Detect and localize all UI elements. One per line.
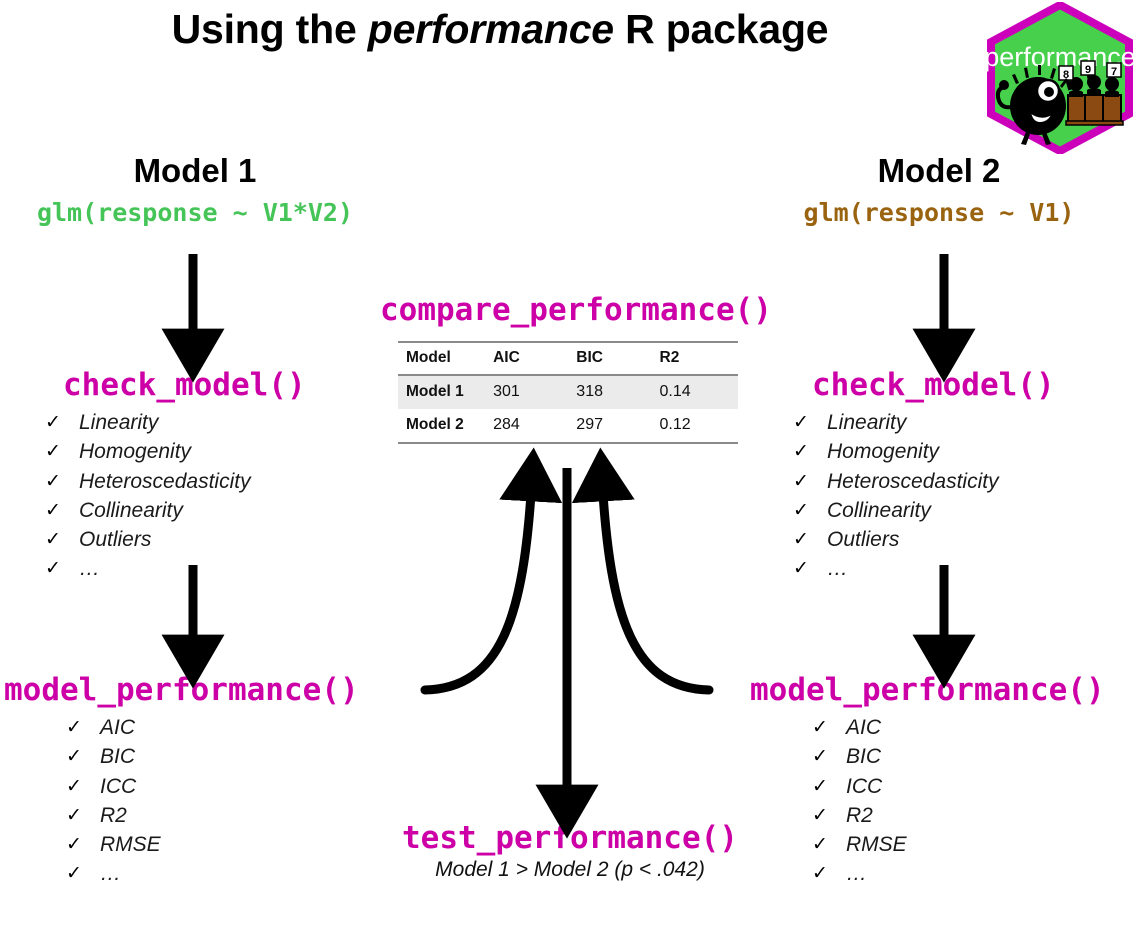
- list-item-label: ICC: [100, 775, 136, 798]
- right-model-formula: glm(response ~ V1): [744, 198, 1134, 227]
- column-header-aic: AIC: [493, 342, 576, 375]
- list-item-label: Linearity: [827, 411, 906, 434]
- list-item-label: Outliers: [79, 528, 151, 551]
- list-item: ✓Heteroscedasticity: [45, 467, 251, 496]
- list-item-label: …: [100, 862, 121, 885]
- list-item: ✓Homogenity: [793, 437, 999, 466]
- right-model-heading: Model 2: [744, 152, 1134, 190]
- cell-model: Model 1: [398, 375, 493, 409]
- list-item: ✓Outliers: [45, 525, 251, 554]
- cell-r2: 0.12: [660, 409, 738, 443]
- list-item-label: Heteroscedasticity: [827, 470, 999, 493]
- list-item: ✓Linearity: [793, 408, 999, 437]
- test-performance-result: Model 1 > Model 2 (p < .042): [380, 858, 760, 882]
- check-icon: ✓: [45, 554, 61, 583]
- left-model-performance-label: model_performance(): [4, 672, 359, 708]
- list-item: ✓RMSE: [66, 830, 161, 859]
- check-icon: ✓: [793, 525, 809, 554]
- column-header-bic: BIC: [576, 342, 659, 375]
- compare-performance-table: Model AIC BIC R2 Model 1 301 318 0.14 Mo…: [398, 341, 738, 444]
- list-item: ✓AIC: [66, 713, 161, 742]
- list-item: ✓AIC: [812, 713, 907, 742]
- column-header-r2: R2: [660, 342, 738, 375]
- list-item-label: AIC: [846, 716, 881, 739]
- list-item: ✓ICC: [66, 772, 161, 801]
- list-item-label: Heteroscedasticity: [79, 470, 251, 493]
- list-item-label: Homogenity: [79, 440, 191, 463]
- list-item: ✓ICC: [812, 772, 907, 801]
- check-icon: ✓: [45, 525, 61, 554]
- right-check-model-list: ✓Linearity ✓Homogenity ✓Heteroscedastici…: [793, 408, 999, 584]
- list-item: ✓Collinearity: [45, 496, 251, 525]
- list-item: ✓BIC: [812, 742, 907, 771]
- cell-bic: 318: [576, 375, 659, 409]
- check-icon: ✓: [793, 408, 809, 437]
- list-item-label: AIC: [100, 716, 135, 739]
- score-card-3: 7: [1111, 66, 1117, 78]
- table-header-row: Model AIC BIC R2: [398, 342, 738, 375]
- left-check-model-label: check_model(): [63, 367, 306, 403]
- check-icon: ✓: [66, 801, 82, 830]
- check-icon: ✓: [45, 437, 61, 466]
- cell-aic: 301: [493, 375, 576, 409]
- check-icon: ✓: [812, 713, 828, 742]
- cell-bic: 297: [576, 409, 659, 443]
- left-check-model-list: ✓Linearity ✓Homogenity ✓Heteroscedastici…: [45, 408, 251, 584]
- column-header-model: Model: [398, 342, 493, 375]
- performance-hex-logo: performance 8 9: [986, 2, 1134, 154]
- check-icon: ✓: [812, 801, 828, 830]
- list-item-label: …: [846, 862, 867, 885]
- list-item: ✓RMSE: [812, 830, 907, 859]
- title-suffix: R package: [614, 6, 829, 52]
- list-item: ✓Homogenity: [45, 437, 251, 466]
- check-icon: ✓: [812, 830, 828, 859]
- title-emphasis: performance: [368, 6, 614, 52]
- list-item: ✓BIC: [66, 742, 161, 771]
- check-icon: ✓: [793, 496, 809, 525]
- list-item: ✓Outliers: [793, 525, 999, 554]
- check-icon: ✓: [45, 496, 61, 525]
- check-icon: ✓: [45, 467, 61, 496]
- check-icon: ✓: [66, 772, 82, 801]
- check-icon: ✓: [793, 437, 809, 466]
- list-item: ✓…: [812, 859, 907, 888]
- table-row: Model 2 284 297 0.12: [398, 409, 738, 443]
- check-icon: ✓: [793, 467, 809, 496]
- list-item-label: Linearity: [79, 411, 158, 434]
- judges-desk: [1068, 95, 1121, 123]
- right-model-performance-label: model_performance(): [750, 672, 1105, 708]
- list-item: ✓R2: [812, 801, 907, 830]
- arrow-curve-right: [602, 478, 709, 690]
- cell-aic: 284: [493, 409, 576, 443]
- list-item-label: ICC: [846, 775, 882, 798]
- compare-performance-label: compare_performance(): [380, 292, 760, 328]
- list-item: ✓…: [793, 554, 999, 583]
- list-item-label: BIC: [100, 745, 135, 768]
- left-model-heading: Model 1: [0, 152, 390, 190]
- check-icon: ✓: [793, 554, 809, 583]
- list-item-label: BIC: [846, 745, 881, 768]
- score-card-2: 9: [1085, 64, 1091, 76]
- right-check-model-label: check_model(): [812, 367, 1055, 403]
- list-item: ✓R2: [66, 801, 161, 830]
- list-item-label: …: [79, 557, 100, 580]
- check-icon: ✓: [66, 713, 82, 742]
- left-model-performance-list: ✓AIC ✓BIC ✓ICC ✓R2 ✓RMSE ✓…: [66, 713, 161, 889]
- check-icon: ✓: [812, 859, 828, 888]
- list-item: ✓…: [66, 859, 161, 888]
- check-icon: ✓: [66, 830, 82, 859]
- check-icon: ✓: [812, 772, 828, 801]
- list-item-label: Collinearity: [827, 499, 931, 522]
- arrow-curve-left: [425, 478, 532, 690]
- check-icon: ✓: [66, 742, 82, 771]
- table-row: Model 1 301 318 0.14: [398, 375, 738, 409]
- list-item-label: R2: [100, 804, 127, 827]
- page-title: Using the performance R package: [0, 6, 1000, 53]
- list-item-label: Homogenity: [827, 440, 939, 463]
- slide-canvas: Using the performance R package performa…: [0, 0, 1134, 945]
- left-model-formula: glm(response ~ V1*V2): [0, 198, 390, 227]
- list-item: ✓Heteroscedasticity: [793, 467, 999, 496]
- test-performance-label: test_performance(): [380, 820, 760, 856]
- list-item-label: R2: [846, 804, 873, 827]
- check-icon: ✓: [66, 859, 82, 888]
- list-item-label: RMSE: [100, 833, 161, 856]
- list-item-label: RMSE: [846, 833, 907, 856]
- list-item-label: …: [827, 557, 848, 580]
- title-prefix: Using the: [172, 6, 368, 52]
- right-model-performance-list: ✓AIC ✓BIC ✓ICC ✓R2 ✓RMSE ✓…: [812, 713, 907, 889]
- list-item-label: Outliers: [827, 528, 899, 551]
- list-item-label: Collinearity: [79, 499, 183, 522]
- cell-r2: 0.14: [660, 375, 738, 409]
- list-item: ✓…: [45, 554, 251, 583]
- list-item: ✓Linearity: [45, 408, 251, 437]
- check-icon: ✓: [812, 742, 828, 771]
- list-item: ✓Collinearity: [793, 496, 999, 525]
- check-icon: ✓: [45, 408, 61, 437]
- cell-model: Model 2: [398, 409, 493, 443]
